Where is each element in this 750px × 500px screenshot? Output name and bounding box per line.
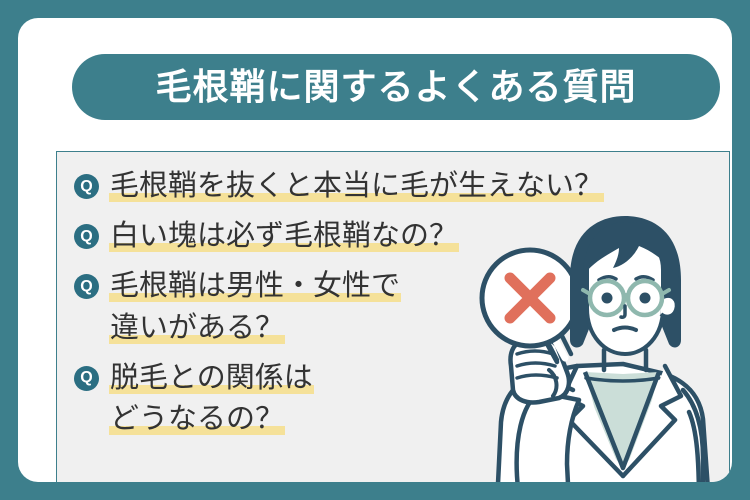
faq-item-1[interactable]: Q 毛根鞘を抜くと本当に毛が生えない？	[74, 166, 724, 207]
q-badge-icon: Q	[74, 274, 99, 299]
faq-line: 毛根鞘は男性・女性で	[109, 266, 724, 307]
q-badge-icon: Q	[74, 174, 99, 199]
faq-line-highlight: 違いがある？	[109, 312, 285, 344]
faq-item-1-text: 毛根鞘を抜くと本当に毛が生えない？	[109, 166, 724, 207]
page-title: 毛根鞘に関するよくある質問	[155, 69, 636, 105]
faq-line-highlight: 白い塊は必ず毛根鞘なの？	[109, 220, 459, 252]
faq-item-4-text: 脱毛との関係は どうなるの？	[109, 358, 724, 440]
infographic-canvas: 毛根鞘に関するよくある質問 Q 毛根鞘を抜くと本当に毛が生えない？ Q 白い塊は…	[0, 0, 750, 500]
faq-item-2-text: 白い塊は必ず毛根鞘なの？	[109, 216, 724, 257]
content-card: 毛根鞘に関するよくある質問 Q 毛根鞘を抜くと本当に毛が生えない？ Q 白い塊は…	[18, 18, 732, 482]
faq-item-3[interactable]: Q 毛根鞘は男性・女性で 違いがある？	[74, 266, 724, 348]
faq-line: どうなるの？	[109, 399, 724, 440]
faq-line: 違いがある？	[109, 308, 724, 349]
faq-question-list: Q 毛根鞘を抜くと本当に毛が生えない？ Q 白い塊は必ず毛根鞘なの？ Q 毛根鞘…	[74, 166, 724, 449]
faq-line: 毛根鞘を抜くと本当に毛が生えない？	[109, 166, 724, 207]
title-banner: 毛根鞘に関するよくある質問	[72, 54, 720, 120]
faq-item-2[interactable]: Q 白い塊は必ず毛根鞘なの？	[74, 216, 724, 257]
faq-line: 白い塊は必ず毛根鞘なの？	[109, 216, 724, 257]
q-badge-icon: Q	[74, 224, 99, 249]
faq-line-highlight: 脱毛との関係は	[109, 362, 314, 394]
faq-line: 脱毛との関係は	[109, 358, 724, 399]
faq-line-highlight: どうなるの？	[109, 403, 285, 435]
faq-line-highlight: 毛根鞘を抜くと本当に毛が生えない？	[109, 170, 604, 202]
faq-item-3-text: 毛根鞘は男性・女性で 違いがある？	[109, 266, 724, 348]
faq-line-highlight: 毛根鞘は男性・女性で	[109, 270, 401, 302]
faq-item-4[interactable]: Q 脱毛との関係は どうなるの？	[74, 358, 724, 440]
q-badge-icon: Q	[74, 366, 99, 391]
